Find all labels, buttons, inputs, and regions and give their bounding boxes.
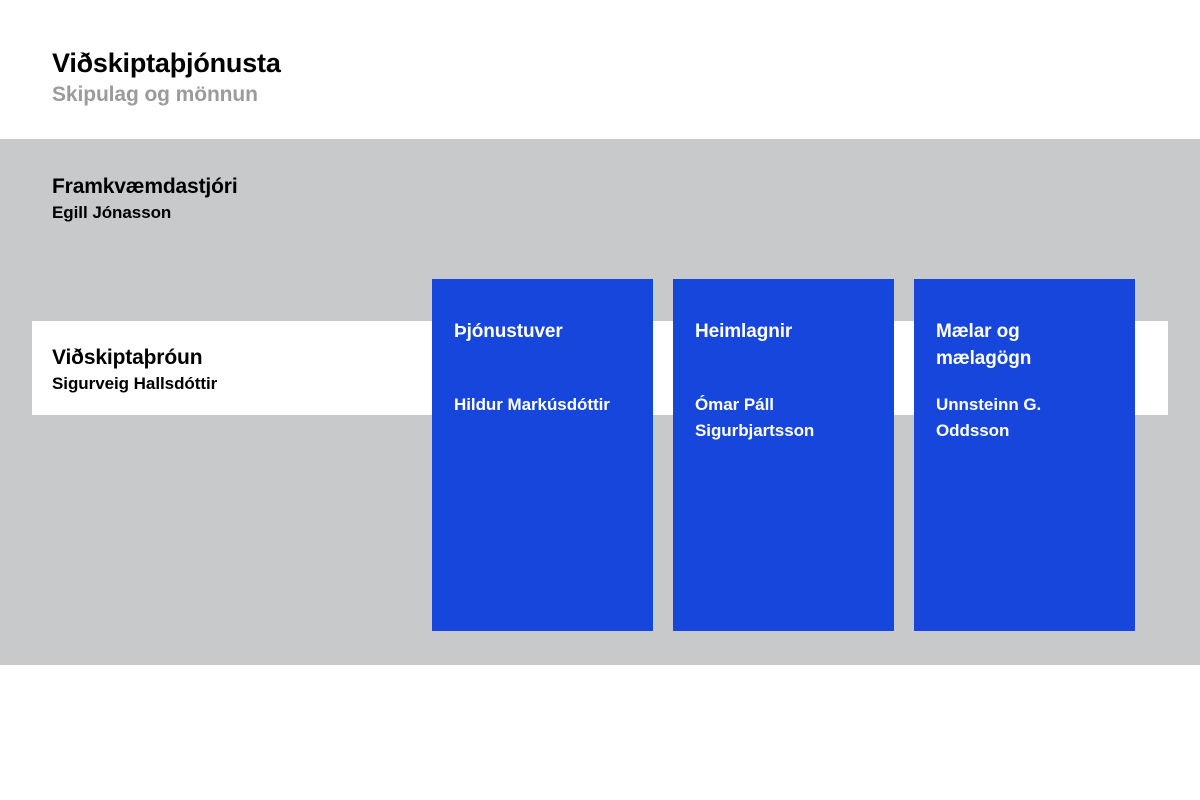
page-title: Viðskiptaþjónusta (52, 48, 752, 80)
division-person-name: Sigurveig Hallsdóttir (52, 373, 217, 395)
org-chart-band: Framkvæmdastjóri Egill Jónasson Viðskipt… (0, 139, 1200, 665)
unit-person-name: Ómar Páll Sigurbjartsson (695, 392, 876, 443)
org-chart-page: Viðskiptaþjónusta Skipulag og mönnun Fra… (0, 0, 1200, 800)
page-header: Viðskiptaþjónusta Skipulag og mönnun (52, 48, 752, 108)
unit-title-label: Mælar og mælagögn (936, 319, 1113, 373)
executive-person-name: Egill Jónasson (52, 202, 472, 224)
executive-role-label: Framkvæmdastjóri (52, 174, 472, 200)
division-text-block: Viðskiptaþróun Sigurveig Hallsdóttir (52, 345, 217, 395)
unit-title-label: Þjónustuver (454, 319, 631, 346)
unit-person-name: Hildur Markúsdóttir (454, 392, 635, 418)
page-subtitle: Skipulag og mönnun (52, 82, 752, 108)
division-role-label: Viðskiptaþróun (52, 345, 217, 371)
unit-person-name: Unnsteinn G. Oddsson (936, 392, 1117, 443)
org-unit-card[interactable]: Heimlagnir Ómar Páll Sigurbjartsson (673, 279, 894, 631)
org-unit-card[interactable]: Mælar og mælagögn Unnsteinn G. Oddsson (914, 279, 1135, 631)
org-unit-card[interactable]: Þjónustuver Hildur Markúsdóttir (432, 279, 653, 631)
org-unit-card-list: Þjónustuver Hildur Markúsdóttir Heimlagn… (432, 279, 1136, 631)
unit-title-label: Heimlagnir (695, 319, 872, 346)
org-node-executive[interactable]: Framkvæmdastjóri Egill Jónasson (52, 174, 472, 224)
